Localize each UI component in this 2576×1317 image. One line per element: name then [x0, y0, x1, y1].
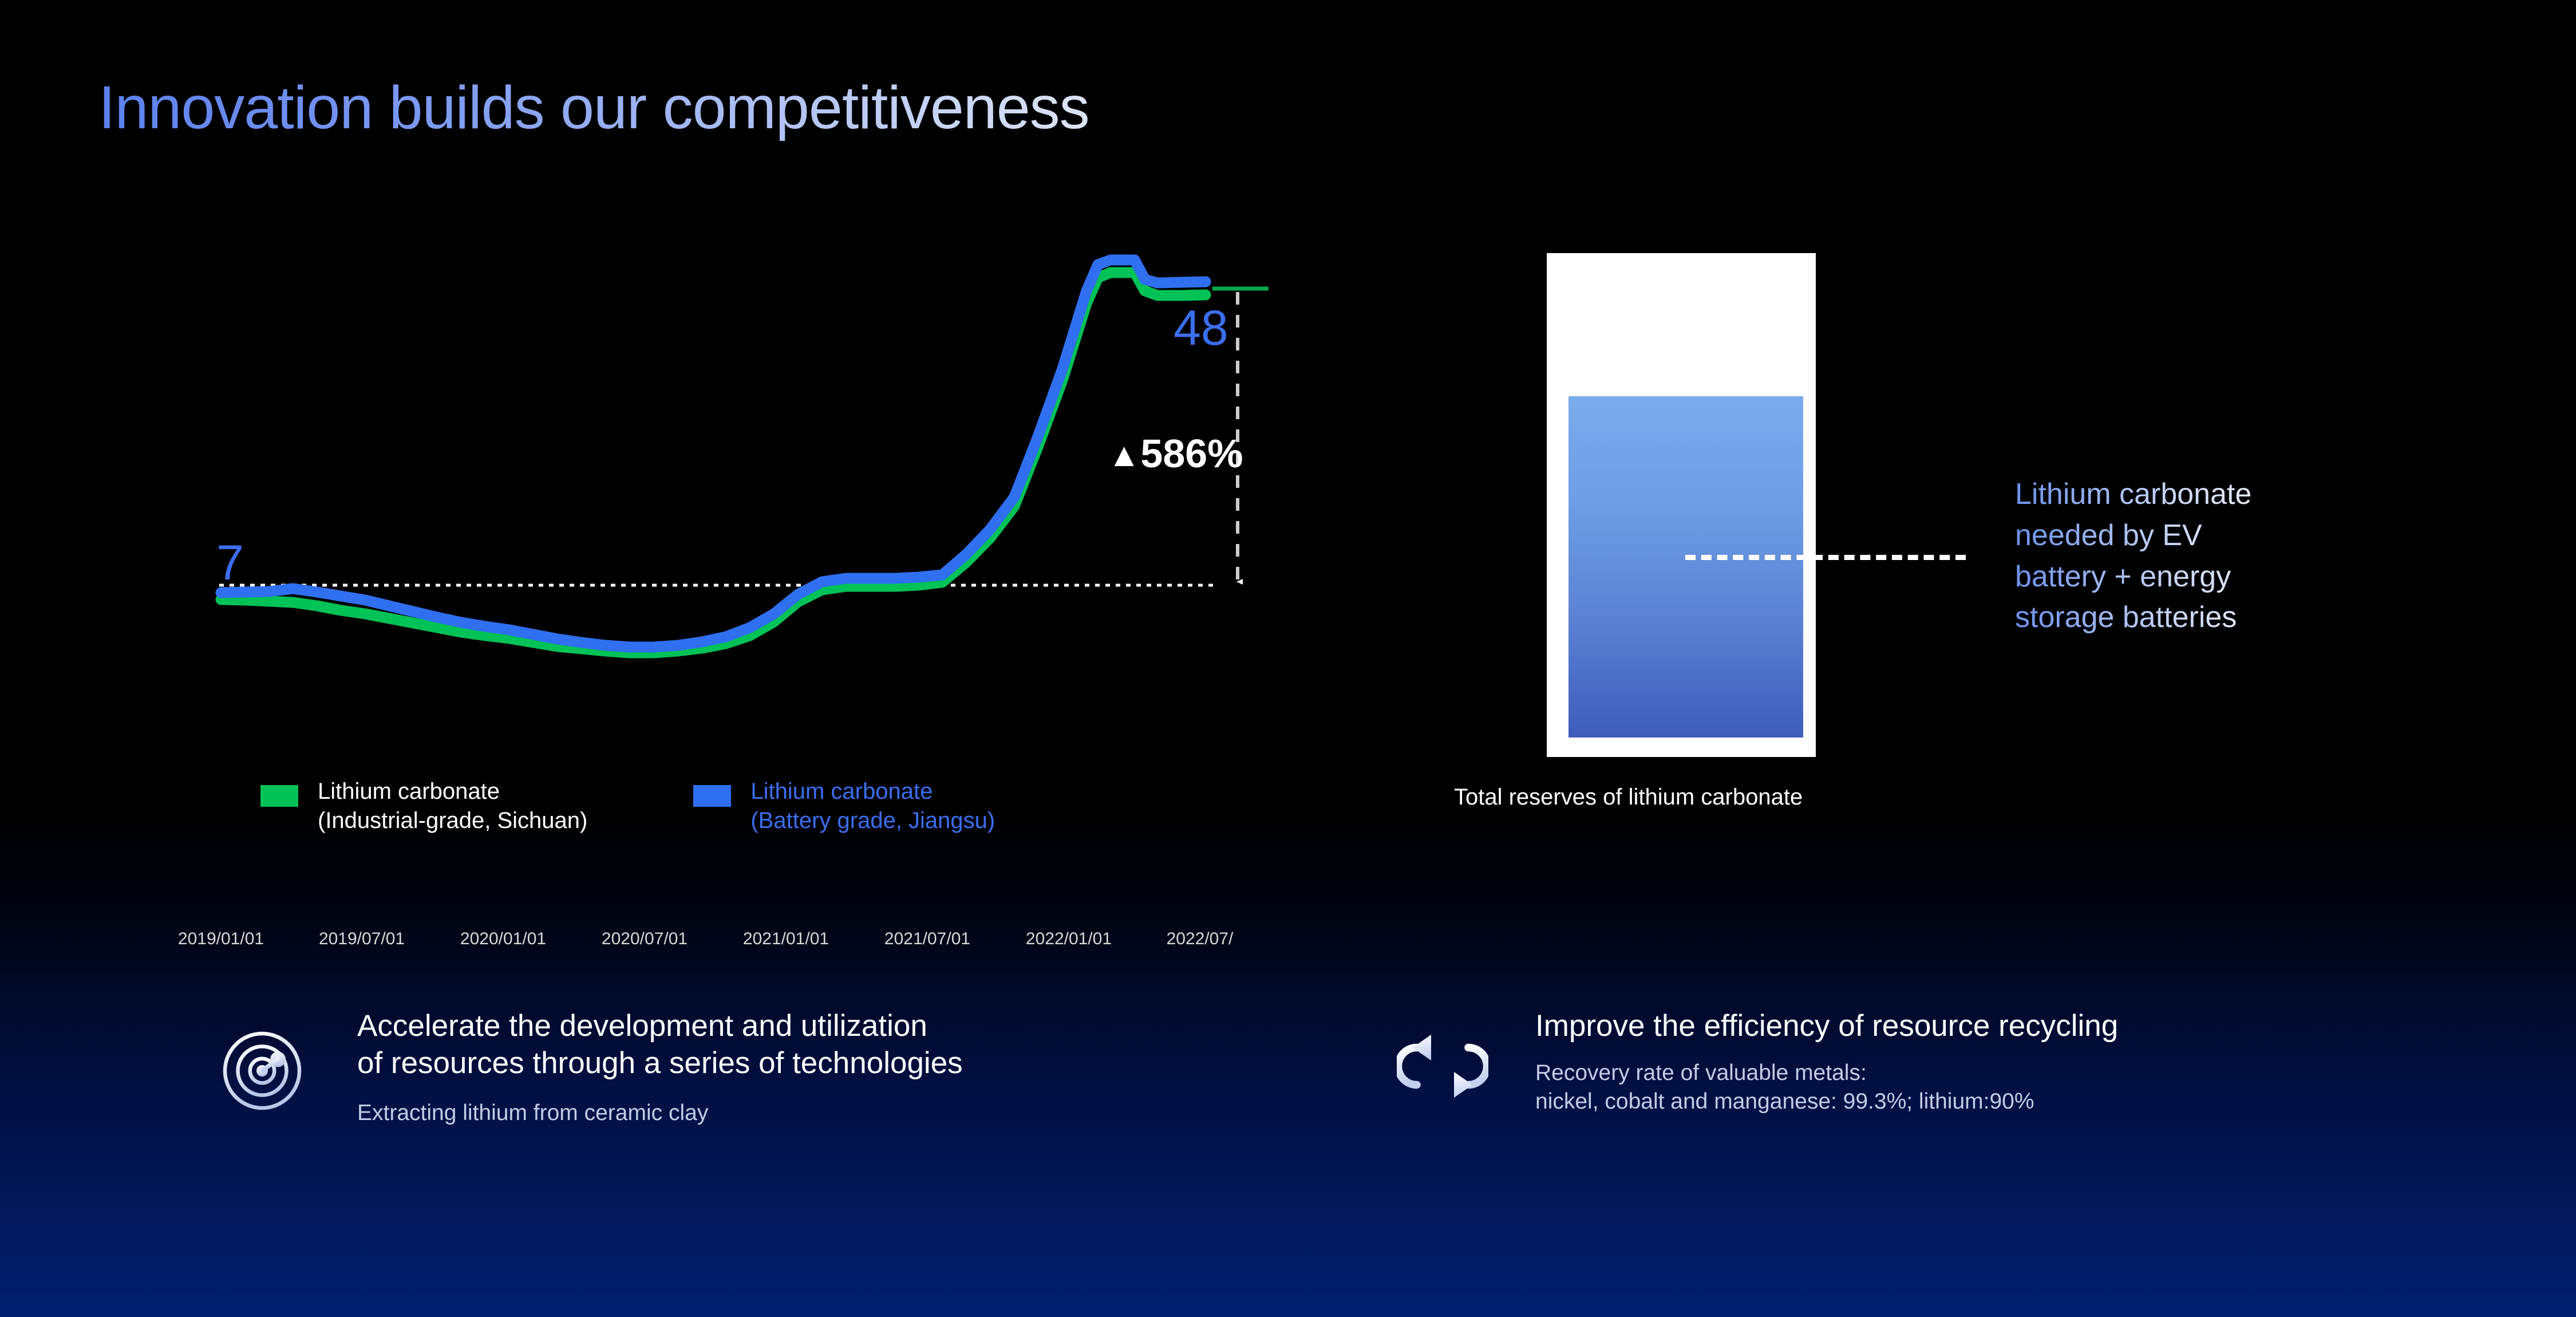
feature-title: Accelerate the development and utilizati…: [357, 1008, 963, 1082]
feature-body: Improve the efficiency of resource recyc…: [1488, 1008, 2118, 1115]
reserves-leader-line: [1685, 555, 1966, 560]
chart-start-value: 7: [216, 538, 244, 587]
reserves-container: [1547, 253, 1816, 757]
reserves-caption: Total reserves of lithium carbonate: [1454, 784, 1803, 810]
feature-title: Improve the efficiency of resource recyc…: [1535, 1008, 2118, 1045]
delta-value: 586%: [1140, 431, 1243, 476]
legend-swatch-industrial: [260, 785, 298, 807]
reserves-fill-level: [1568, 396, 1803, 738]
feature-subtitle: Extracting lithium from ceramic clay: [357, 1099, 963, 1127]
chart-canvas: [0, 218, 1317, 847]
delta-triangle-icon: ▲: [1108, 436, 1140, 474]
x-tick-label: 2020/01/01: [460, 929, 546, 949]
chart-legend: Lithium carbonate (Industrial-grade, Sic…: [260, 777, 995, 835]
legend-item-battery: Lithium carbonate (Battery grade, Jiangs…: [693, 777, 995, 835]
x-tick-label: 2020/07/01: [602, 929, 688, 949]
legend-item-industrial: Lithium carbonate (Industrial-grade, Sic…: [260, 777, 587, 835]
recycle-loop-icon: [1397, 1020, 1488, 1112]
x-tick-label: 2021/07/01: [884, 929, 970, 949]
feature-body: Accelerate the development and utilizati…: [308, 1008, 963, 1127]
page-title: Innovation builds our competitiveness: [98, 73, 1089, 143]
slide-root: Innovation builds our competitiveness: [0, 0, 2576, 1317]
legend-swatch-battery: [693, 785, 731, 807]
x-tick-label: 2021/01/01: [743, 929, 829, 949]
x-tick-label: 2022/07/: [1167, 929, 1234, 949]
chart-delta-badge: ▲586%: [1108, 431, 1243, 476]
x-tick-label: 2019/01/01: [178, 929, 264, 949]
series-line-battery: [221, 260, 1206, 647]
legend-label-industrial: Lithium carbonate (Industrial-grade, Sic…: [318, 777, 587, 835]
chart-end-value: 48: [1174, 303, 1228, 353]
price-chart: 7 48 ▲586% 2019/01/01 2019/07/01 2020/01…: [0, 218, 1317, 847]
radar-target-icon: [216, 1025, 308, 1117]
feature-resource-recycling: Improve the efficiency of resource recyc…: [1397, 1008, 2118, 1115]
feature-subtitle: Recovery rate of valuable metals: nickel…: [1535, 1059, 2118, 1116]
x-tick-label: 2019/07/01: [319, 929, 405, 949]
reserves-annotation-text: Lithium carbonate needed by EV battery +…: [2015, 474, 2251, 638]
feature-resource-development: Accelerate the development and utilizati…: [216, 1008, 963, 1127]
x-tick-label: 2022/01/01: [1026, 929, 1112, 949]
legend-label-battery: Lithium carbonate (Battery grade, Jiangs…: [750, 777, 995, 835]
